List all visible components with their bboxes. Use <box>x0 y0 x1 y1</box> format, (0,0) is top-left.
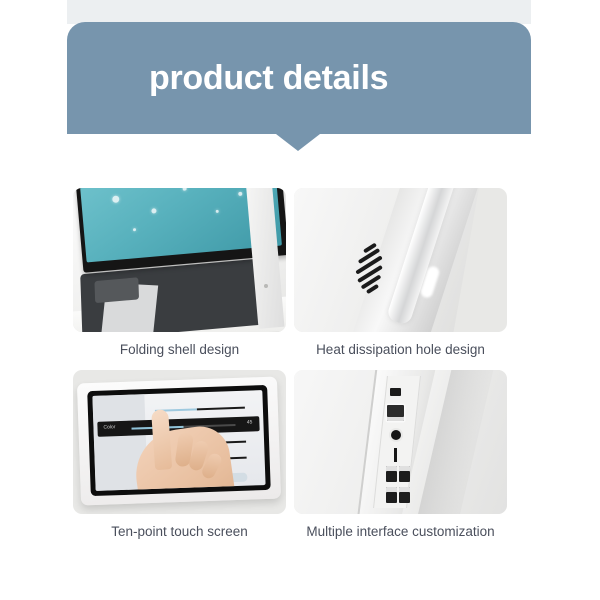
tablet-bezel: Color 45 <box>87 385 271 496</box>
tile-heat-dissipation[interactable]: Heat dissipation hole design <box>294 188 507 358</box>
ethernet-port-icon <box>387 405 404 421</box>
heat-dissipation-image[interactable] <box>294 188 507 332</box>
product-detail-grid: Folding shell design <box>73 188 507 540</box>
tile-caption: Heat dissipation hole design <box>294 342 507 358</box>
product-details-page: product details <box>0 0 600 600</box>
device-handle-tab <box>94 277 139 303</box>
tile-ten-point-touch[interactable]: Color 45 <box>73 370 286 540</box>
banner-pointer-arrow <box>276 134 320 151</box>
tablet-frame: Color 45 <box>77 377 281 506</box>
folding-shell-image[interactable] <box>73 188 286 332</box>
slider-label: Color <box>103 424 115 430</box>
header-top-strip <box>67 0 531 24</box>
tile-caption: Folding shell design <box>73 342 286 358</box>
device-screw-dot <box>264 284 268 288</box>
tile-caption: Ten-point touch screen <box>73 524 286 540</box>
finger-touch-point <box>111 390 133 391</box>
interface-ports-image[interactable] <box>294 370 507 514</box>
usb-port-icon <box>399 466 410 482</box>
usb-port-icon <box>386 487 397 503</box>
slider-value: 45 <box>247 420 253 426</box>
ten-point-touch-image[interactable]: Color 45 <box>73 370 286 514</box>
usb-port-icon <box>386 466 397 482</box>
grid-row-1: Folding shell design <box>73 188 507 358</box>
power-port-icon <box>390 388 401 396</box>
tile-caption: Multiple interface customization <box>294 524 507 540</box>
heat-vent-slots <box>352 246 390 288</box>
tile-folding-shell[interactable]: Folding shell design <box>73 188 286 358</box>
grid-row-2: Color 45 <box>73 370 507 540</box>
page-title: product details <box>149 61 388 95</box>
tablet-screen: Color 45 <box>92 390 265 491</box>
tile-interface-customization[interactable]: Multiple interface customization <box>294 370 507 540</box>
header-banner: product details <box>67 22 531 134</box>
sd-card-slot-icon <box>394 448 397 462</box>
usb-port-icon <box>399 487 410 503</box>
